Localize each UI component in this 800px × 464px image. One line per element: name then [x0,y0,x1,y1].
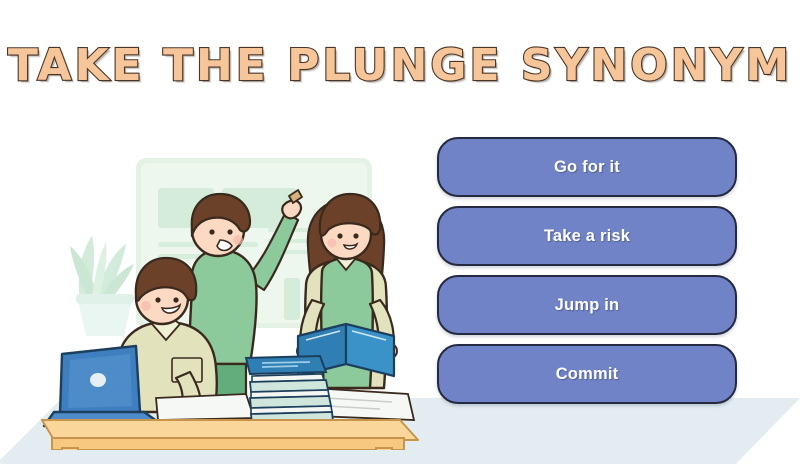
page-title-wrapper: TAKE THE PLUNGE SYNONYM [0,44,800,88]
answer-option-go-for-it[interactable]: Go for it [437,137,737,197]
screen-container: TAKE THE PLUNGE SYNONYM [0,0,800,464]
potted-plant-icon [70,236,134,336]
answer-option-commit[interactable]: Commit [437,344,737,404]
answer-option-take-a-risk[interactable]: Take a risk [437,206,737,266]
students-at-desk-illustration [40,150,430,450]
illustration [40,150,430,450]
answer-option-jump-in[interactable]: Jump in [437,275,737,335]
answer-options-list: Go for it Take a risk Jump in Commit [437,137,737,404]
book-stack-icon [246,356,333,424]
page-title: TAKE THE PLUNGE SYNONYM [8,44,792,88]
